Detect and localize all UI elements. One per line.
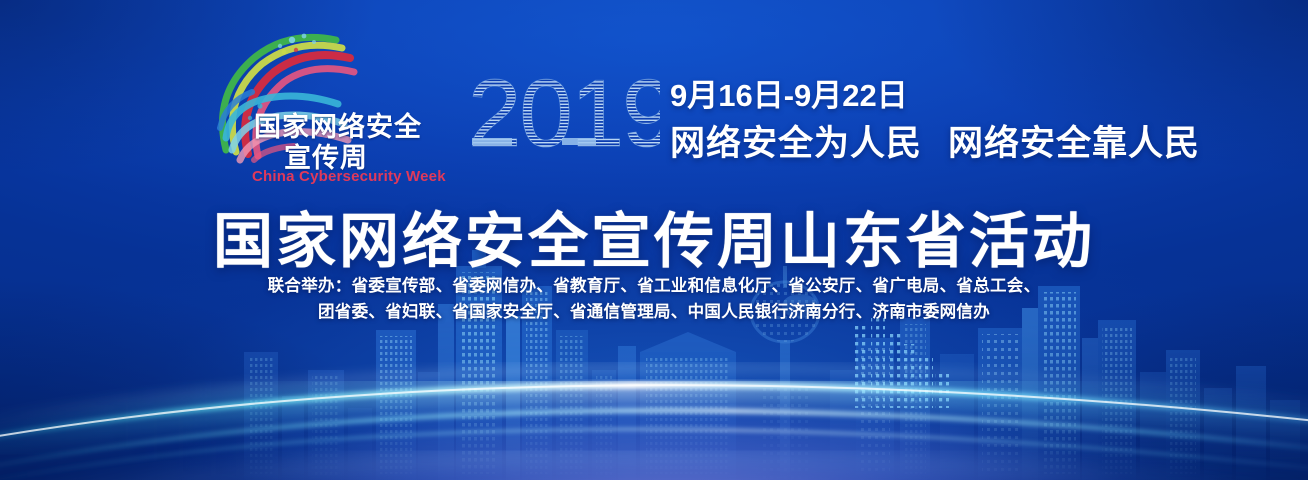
- slogan-part1: 网络安全为人民: [670, 124, 922, 163]
- organizers-line-2: 团省委、省妇联、省国家安全厅、省通信管理局、中国人民银行济南分行、济南市委网信办: [0, 298, 1308, 322]
- logo-english-name: China Cybersecurity Week: [252, 168, 446, 185]
- event-slogan: 网络安全为人民网络安全靠人民: [670, 115, 1200, 166]
- event-date-range: 9月16日-9月22日: [670, 70, 908, 115]
- cybersecurity-week-logo: 国家网络安全 宣传周 China Cybersecurity Week: [196, 32, 432, 164]
- slogan-part2: 网络安全靠人民: [948, 124, 1200, 163]
- cybersecurity-week-banner: 国家网络安全 宣传周 China Cybersecurity Week 2019…: [0, 0, 1308, 480]
- organizers-line-1: 联合举办：省委宣传部、省委网信办、省教育厅、省工业和信息化厅、省公安厅、省广电局…: [0, 272, 1308, 296]
- svg-text:2019: 2019: [470, 62, 660, 162]
- page-title: 国家网络安全宣传周山东省活动: [0, 193, 1308, 280]
- year-2019-graphic: 2019 2019: [470, 62, 660, 162]
